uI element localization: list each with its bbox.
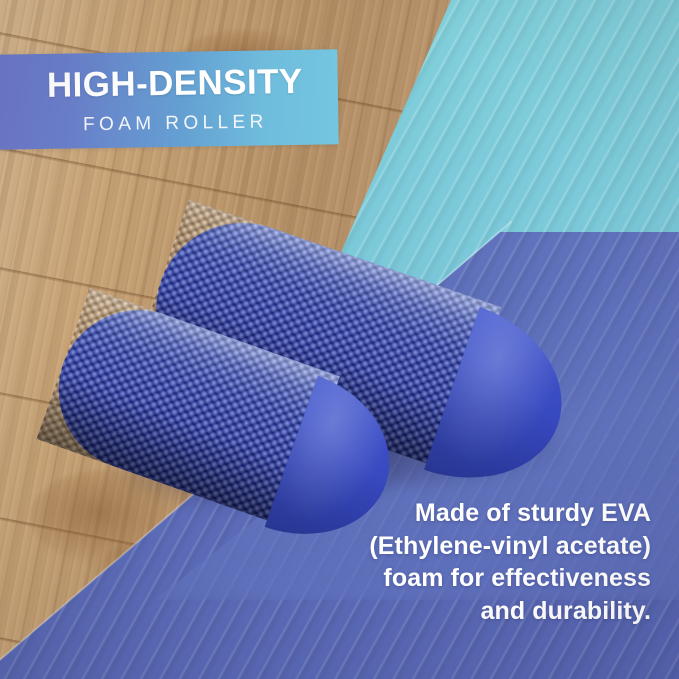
header-banner: HIGH-DENSITY FOAM ROLLER: [0, 49, 339, 149]
caption-line-2: (Ethylene-vinyl acetate): [321, 530, 651, 563]
caption-line-4: and durability.: [321, 595, 651, 628]
feature-caption: Made of sturdy EVA (Ethylene-vinyl aceta…: [321, 497, 651, 627]
product-photo-scene: HIGH-DENSITY FOAM ROLLER Made of sturdy …: [0, 0, 679, 679]
banner-subtitle: FOAM ROLLER: [83, 112, 268, 134]
caption-line-3: foam for effectiveness: [321, 562, 651, 595]
banner-title: HIGH-DENSITY: [47, 64, 303, 103]
caption-line-1: Made of sturdy EVA: [321, 497, 651, 530]
